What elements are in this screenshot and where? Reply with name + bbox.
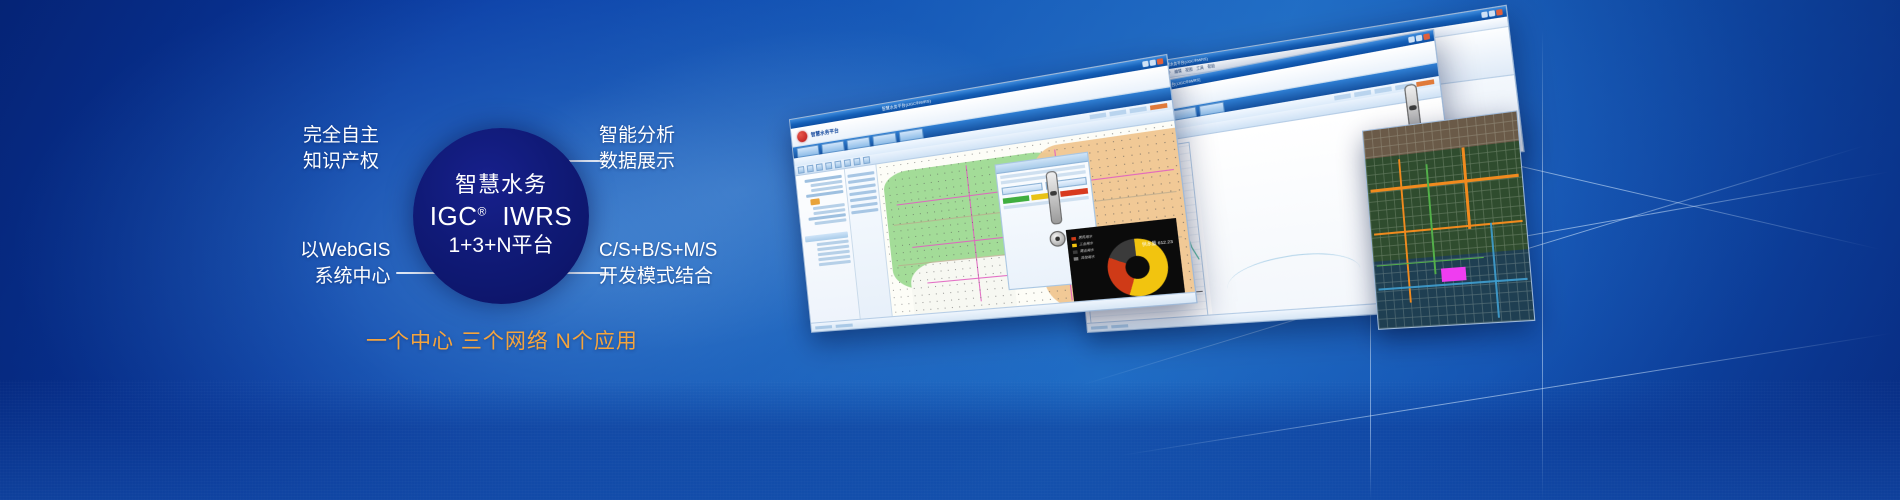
selected-parcel-highlight: [1440, 266, 1466, 282]
maximize-icon[interactable]: [1416, 35, 1423, 42]
status-coords-label: [836, 323, 853, 327]
pie-legend-label-2: 商业用水: [1080, 248, 1094, 254]
window-satellite-map[interactable]: [1362, 110, 1535, 330]
label-top-left: 完全自主 知识产权: [303, 123, 379, 174]
legend-swatch: [810, 198, 820, 205]
toolbar-icon-2[interactable]: [816, 163, 823, 171]
pie-legend-label-0: 居民用水: [1078, 234, 1092, 240]
toolbar-icon-4[interactable]: [834, 160, 841, 168]
subnav-item-2[interactable]: [1129, 106, 1146, 113]
pie-legend-item-2: 商业用水: [1073, 248, 1094, 255]
toolbar-icon-0[interactable]: [798, 166, 805, 174]
menu-item-help[interactable]: 帮助: [1207, 63, 1215, 70]
satellite-window-frame: [1362, 110, 1535, 330]
hub-product-tail: IWRS: [502, 201, 572, 231]
pie-legend-item-0: 居民用水: [1071, 234, 1092, 241]
minimize-icon[interactable]: [1481, 11, 1488, 18]
close-icon[interactable]: [1496, 9, 1503, 16]
label-top-right-line1: 智能分析: [599, 125, 675, 146]
satellite-map-canvas[interactable]: [1363, 111, 1534, 328]
hub-registered-mark: ®: [478, 204, 487, 218]
minimize-icon[interactable]: [1142, 61, 1149, 68]
status-scale-label: [815, 325, 832, 329]
subnav-item-3[interactable]: [1150, 103, 1168, 110]
tagline: 一个中心 三个网络 N个应用: [366, 325, 638, 355]
company-logo-icon: [797, 130, 808, 143]
pie-legend-label-1: 工业用水: [1079, 241, 1093, 247]
hub-product-name: IGC® IWRS: [430, 202, 572, 232]
minimize-icon[interactable]: [1408, 36, 1415, 43]
map-contour: [1225, 249, 1364, 307]
toolbar-icon-1[interactable]: [807, 165, 814, 173]
label-top-right-line2: 数据展示: [599, 149, 675, 175]
close-icon[interactable]: [1423, 33, 1430, 40]
label-top-right: 智能分析 数据展示: [599, 123, 675, 174]
menu-item-view[interactable]: 视图: [1185, 66, 1193, 73]
label-bottom-left-line1: 以WebGIS: [300, 240, 390, 261]
close-icon[interactable]: [1157, 58, 1164, 65]
pie-legend-item-1: 工业用水: [1072, 241, 1093, 248]
label-bottom-left: 以WebGIS 系统中心: [300, 238, 390, 289]
status-segment-1: [1111, 324, 1128, 328]
pie-legend-label-3: 其他用水: [1080, 255, 1094, 261]
label-bottom-right-line1: C/S+B/S+M/S: [599, 240, 717, 261]
menu-item-edit[interactable]: 编辑: [1174, 68, 1182, 75]
subnav-item-1[interactable]: [1109, 109, 1126, 116]
tool-row-5[interactable]: [851, 202, 878, 209]
label-bottom-left-line2: 系统中心: [300, 264, 390, 290]
banner-stage: 智慧水务 IGC® IWRS 1+3+N平台 完全自主 知识产权 以WebGIS…: [0, 0, 1900, 500]
hub-circle: 智慧水务 IGC® IWRS 1+3+N平台: [413, 128, 589, 304]
label-bottom-right: C/S+B/S+M/S 开发模式结合: [599, 238, 717, 289]
attr-row-4: [819, 260, 851, 266]
maximize-icon[interactable]: [1149, 59, 1156, 66]
toolbar-icon-3[interactable]: [825, 162, 832, 170]
status-segment-0: [1091, 325, 1108, 329]
hub-title: 智慧水务: [455, 173, 547, 197]
label-bottom-right-line2: 开发模式结合: [599, 264, 717, 290]
tool-row-6[interactable]: [851, 208, 878, 214]
pie-legend-item-3: 其他用水: [1074, 255, 1095, 262]
maximize-icon[interactable]: [1489, 10, 1496, 17]
label-top-left-line1: 完全自主: [303, 125, 379, 146]
menu-item-tools[interactable]: 工具: [1196, 65, 1204, 72]
hub-product-main: IGC: [430, 201, 478, 231]
guide-line-vertical-a: [1542, 30, 1543, 500]
toolbar-icon-5[interactable]: [844, 159, 851, 167]
subnav-item-0[interactable]: [1090, 112, 1107, 119]
pie-legend: 居民用水 工业用水 商业用水 其他用水: [1071, 234, 1095, 261]
window-front-brand-text: 智慧水务平台: [811, 127, 840, 139]
label-top-left-line2: 知识产权: [303, 149, 379, 175]
toolbar-icon-6[interactable]: [853, 158, 860, 166]
toolbar-icon-7[interactable]: [863, 156, 871, 164]
guide-line-bottom: [1120, 333, 1891, 456]
hub-platform-label: 1+3+N平台: [448, 233, 553, 258]
water-supply-pie-chart[interactable]: 居民用水 工业用水 商业用水 其他用水 供水量 612.23: [1066, 218, 1185, 305]
